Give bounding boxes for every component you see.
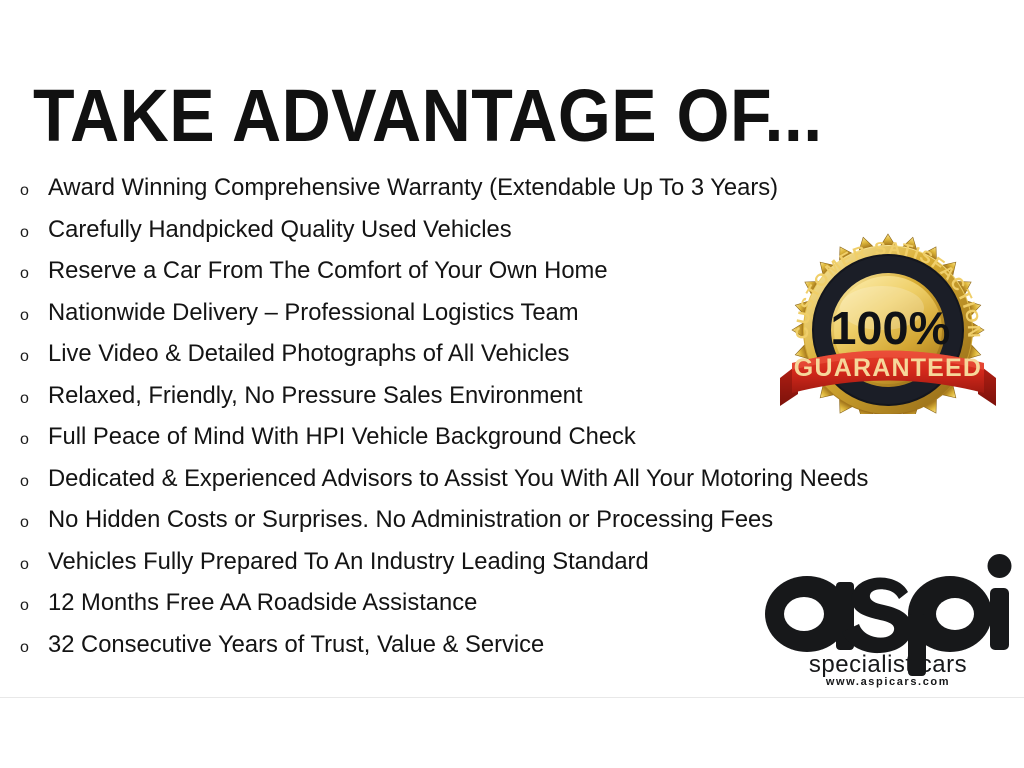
seal-ribbon-text: GUARANTEED: [794, 354, 982, 382]
logo-tagline: specialist cars: [809, 651, 967, 678]
list-item-label: Reserve a Car From The Comfort of Your O…: [48, 259, 608, 284]
bullet-marker-icon: o: [14, 515, 48, 531]
list-item-label: Live Video & Detailed Photographs of All…: [48, 342, 569, 367]
list-item-label: 12 Months Free AA Roadside Assistance: [48, 591, 477, 616]
page-title: TAKE ADVANTAGE OF...: [33, 78, 823, 154]
aspi-logo: specialist cars www.aspicars.com: [762, 544, 1014, 690]
bullet-marker-icon: o: [14, 266, 48, 282]
bullet-marker-icon: o: [14, 598, 48, 614]
logo-website: www.aspicars.com: [825, 676, 950, 688]
promo-poster: TAKE ADVANTAGE OF... o Award Winning Com…: [0, 0, 1024, 698]
bullet-marker-icon: o: [14, 432, 48, 448]
bullet-marker-icon: o: [14, 640, 48, 656]
customer-satisfaction-seal-icon: CUSTOMER SATISFACTION 100% GUARANTEED: [772, 226, 1004, 414]
bullet-marker-icon: o: [14, 391, 48, 407]
list-item-label: 32 Consecutive Years of Trust, Value & S…: [48, 633, 544, 658]
list-item-label: Carefully Handpicked Quality Used Vehicl…: [48, 218, 512, 243]
bullet-marker-icon: o: [14, 308, 48, 324]
list-item-label: Vehicles Fully Prepared To An Industry L…: [48, 550, 649, 575]
bullet-marker-icon: o: [14, 349, 48, 365]
list-item-label: Award Winning Comprehensive Warranty (Ex…: [48, 176, 778, 201]
list-item: o Full Peace of Mind With HPI Vehicle Ba…: [14, 425, 974, 467]
list-item-label: Nationwide Delivery – Professional Logis…: [48, 301, 579, 326]
list-item-label: Dedicated & Experienced Advisors to Assi…: [48, 467, 868, 492]
list-item-label: Full Peace of Mind With HPI Vehicle Back…: [48, 425, 636, 450]
bullet-marker-icon: o: [14, 557, 48, 573]
bullet-marker-icon: o: [14, 183, 48, 199]
bullet-marker-icon: o: [14, 474, 48, 490]
list-item-label: No Hidden Costs or Surprises. No Adminis…: [48, 508, 773, 533]
list-item: o Dedicated & Experienced Advisors to As…: [14, 467, 974, 509]
list-item: o Award Winning Comprehensive Warranty (…: [14, 176, 974, 218]
list-item-label: Relaxed, Friendly, No Pressure Sales Env…: [48, 384, 583, 409]
bullet-marker-icon: o: [14, 225, 48, 241]
seal-percentage-text: 100%: [830, 302, 950, 353]
